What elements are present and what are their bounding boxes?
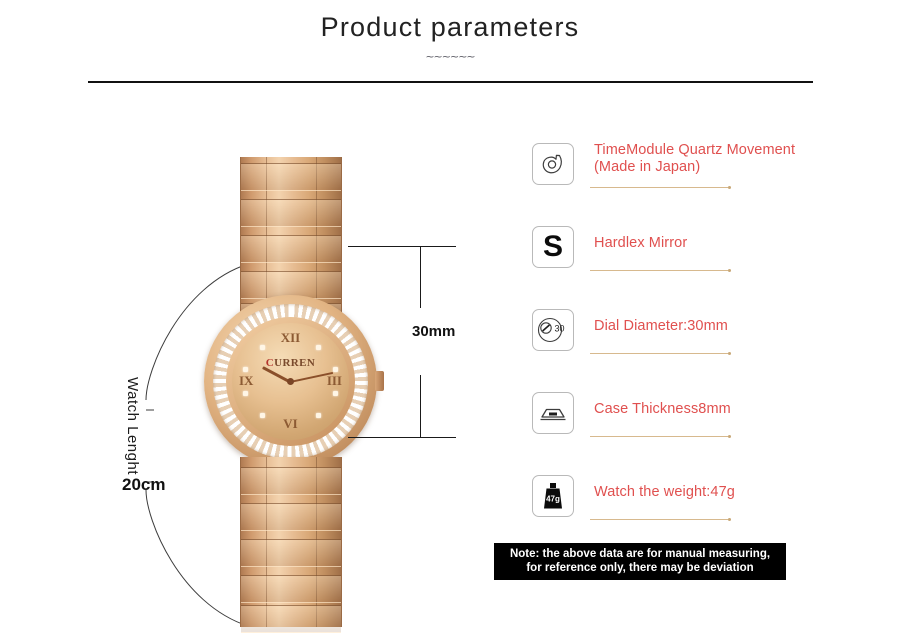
- numeral-12: XII: [232, 330, 349, 346]
- feature-underline: [590, 436, 728, 437]
- product-parameters-page: Product parameters ~~~~~~ Band width 12m…: [0, 0, 900, 614]
- watch-crown: [375, 371, 384, 391]
- case-thickness-icon: [532, 392, 574, 434]
- hardlex-s-icon: S: [532, 226, 574, 268]
- feature-item-dial-diameter: 30 Dial Diameter:30mm: [532, 309, 862, 392]
- watch-weight-icon: 47g: [532, 475, 574, 517]
- feature-label-movement: TimeModule Quartz Movement (Made in Japa…: [594, 142, 795, 176]
- hour-marker: [316, 345, 321, 350]
- hour-marker: [260, 345, 265, 350]
- watch-illustration: CURREN XII III VI IX: [198, 157, 383, 627]
- watch-case: CURREN XII III VI IX: [204, 295, 377, 468]
- feature-underline: [590, 270, 728, 271]
- feature-item-mirror: S Hardlex Mirror: [532, 226, 862, 309]
- feature-label-case-thickness: Case Thickness8mm: [594, 401, 731, 418]
- measurement-note: Note: the above data are for manual meas…: [494, 543, 786, 580]
- svg-text:30: 30: [555, 324, 565, 334]
- feature-underline: [590, 187, 728, 188]
- hour-marker: [243, 391, 248, 396]
- dial-dimension-line-lower: [420, 375, 421, 438]
- feature-underline: [590, 519, 728, 520]
- feature-label-weight: Watch the weight:47g: [594, 484, 735, 501]
- hands-pin: [287, 378, 294, 385]
- watch-dial: CURREN XII III VI IX: [232, 323, 349, 440]
- hour-marker: [260, 413, 265, 418]
- watch-band-bottom: [240, 457, 342, 627]
- dial-dimension-leader-bottom: [348, 437, 456, 438]
- feature-underline: [590, 353, 728, 354]
- watch-length-value: 20cm: [122, 475, 165, 495]
- feature-label-mirror: Hardlex Mirror: [594, 235, 687, 252]
- watch-movement-icon: [532, 143, 574, 185]
- numeral-3: III: [327, 373, 342, 389]
- numeral-6: VI: [232, 416, 349, 432]
- wave-decoration-icon: ~~~~~~: [0, 50, 900, 63]
- watch-length-label: Watch Lenght: [119, 377, 141, 475]
- feature-item-movement: TimeModule Quartz Movement (Made in Japa…: [532, 143, 862, 226]
- numeral-9: IX: [239, 373, 253, 389]
- brand-logo: CURREN: [232, 357, 349, 369]
- feature-label-dial-diameter: Dial Diameter:30mm: [594, 318, 728, 335]
- dial-dimension-line-upper: [420, 246, 421, 308]
- dial-dimension-value: 30mm: [412, 323, 455, 340]
- header-divider: [88, 81, 813, 83]
- hardlex-s-letter: S: [532, 226, 574, 268]
- feature-item-case-thickness: Case Thickness8mm: [532, 392, 862, 475]
- hour-marker: [316, 413, 321, 418]
- watch-dimension-diagram: Band width 12mm Watch Lenght 20cm: [0, 95, 500, 565]
- hour-marker: [333, 391, 338, 396]
- dial-dimension-leader-top: [348, 246, 456, 247]
- brand-first-letter: C: [266, 357, 274, 369]
- dial-diameter-icon: 30: [532, 309, 574, 351]
- hour-marker: [243, 367, 248, 372]
- svg-text:47g: 47g: [546, 495, 560, 504]
- page-title: Product parameters: [0, 12, 900, 43]
- brand-rest: URREN: [274, 357, 315, 369]
- feature-list: TimeModule Quartz Movement (Made in Japa…: [532, 143, 862, 558]
- hour-marker: [333, 367, 338, 372]
